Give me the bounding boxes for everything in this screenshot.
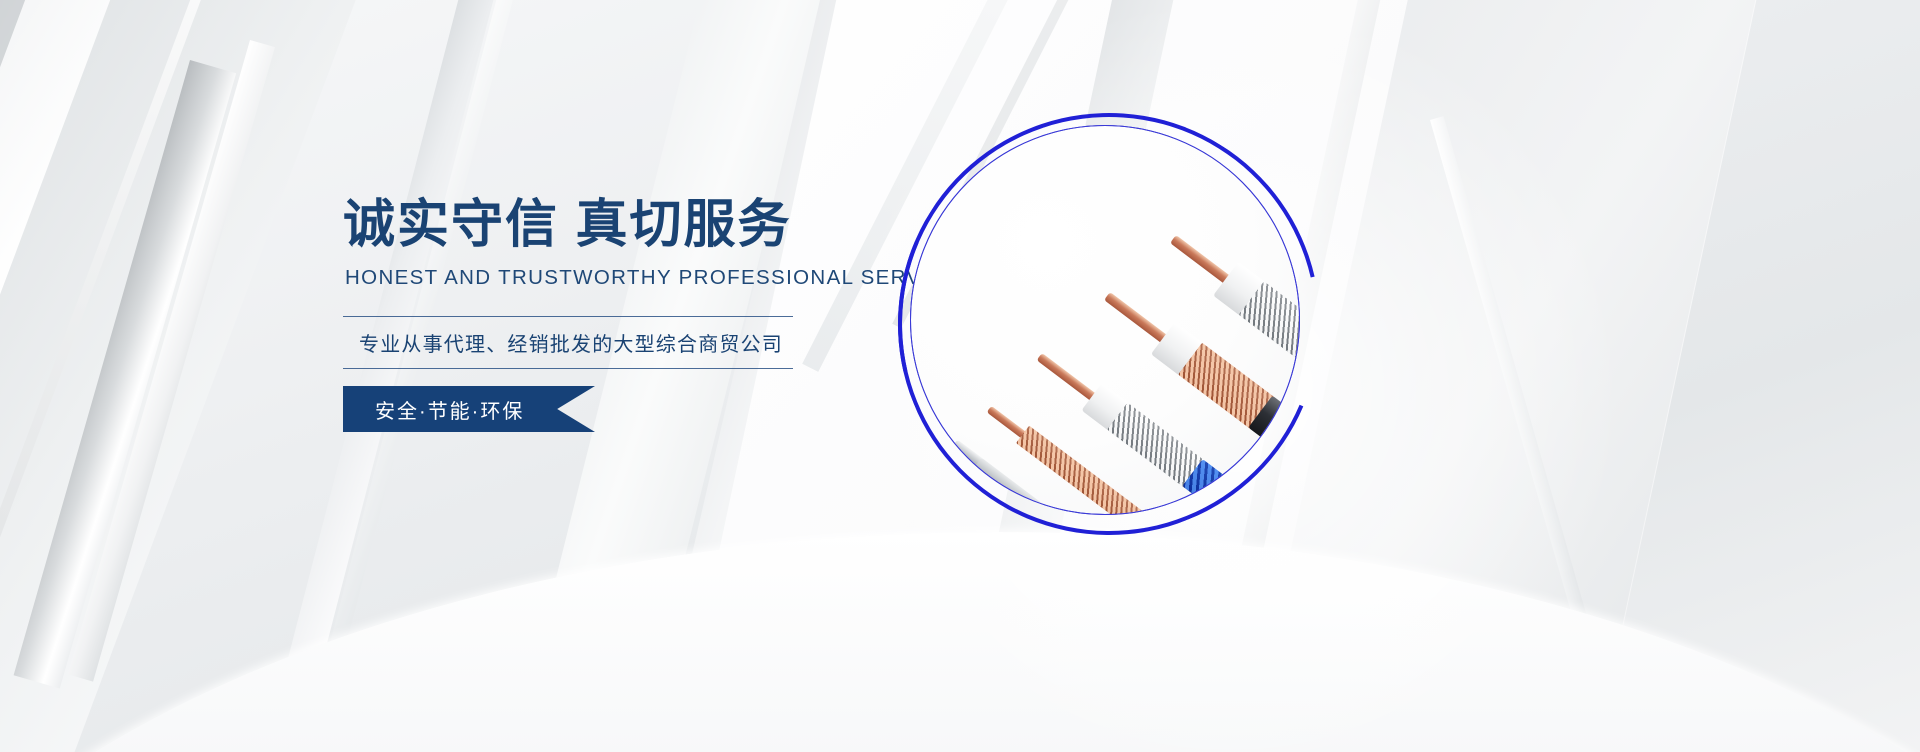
banner-text-block: 诚实守信 真切服务 HONEST AND TRUSTWORTHY PROFESS… — [343, 196, 863, 369]
banner-headline: 诚实守信 真切服务 — [343, 196, 863, 254]
banner-tagline: 专业从事代理、经销批发的大型综合商贸公司 — [343, 317, 863, 368]
cable-photo: RG-6/U — [910, 125, 1300, 515]
feature-ribbon-label: 安全·节能·环保 — [343, 395, 524, 424]
hero-banner: 诚实守信 真切服务 HONEST AND TRUSTWORTHY PROFESS… — [0, 0, 1920, 752]
divider-top — [343, 316, 793, 317]
divider-bottom — [343, 368, 793, 369]
banner-subtitle-english: HONEST AND TRUSTWORTHY PROFESSIONAL SERV… — [345, 266, 863, 290]
cable-blue-jacket — [1029, 343, 1281, 515]
product-photo-circle: RG-6/U — [910, 125, 1300, 515]
cable-photo-content: RG-6/U — [911, 126, 1299, 514]
